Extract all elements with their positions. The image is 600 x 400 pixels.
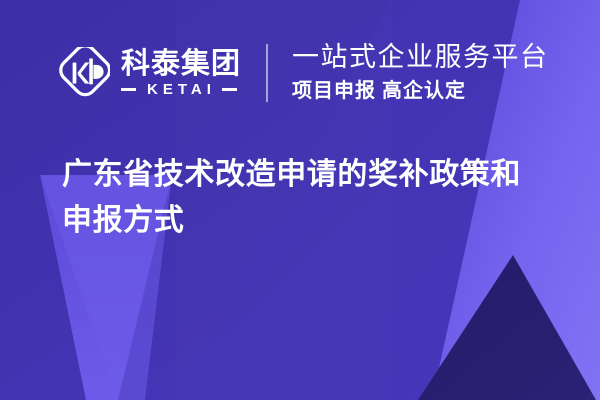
ketai-kd-monogram-logo-icon: [58, 47, 110, 99]
banner-header: 科泰集团 KETAI 一站式企业服务平台 项目申报 高企认定: [58, 38, 549, 108]
dash-left-icon: [121, 88, 136, 91]
logo-wordmark: 科泰集团 KETAI: [121, 49, 241, 98]
page-title-line-2: 申报方式: [62, 198, 548, 244]
slogan-main: 一站式企业服务平台: [292, 42, 549, 74]
page-title-line-1: 广东省技术改造申请的奖补政策和: [62, 152, 548, 198]
header-divider: [266, 44, 268, 102]
company-name-en: KETAI: [142, 82, 216, 97]
promo-banner: 科泰集团 KETAI 一站式企业服务平台 项目申报 高企认定 广东省技术改造申请…: [0, 0, 600, 400]
dash-right-icon: [222, 88, 237, 91]
company-name-cn: 科泰集团: [121, 49, 241, 80]
page-title: 广东省技术改造申请的奖补政策和 申报方式: [62, 152, 548, 243]
company-name-en-row: KETAI: [121, 82, 241, 97]
slogan-block: 一站式企业服务平台 项目申报 高企认定: [292, 42, 549, 104]
slogan-sub: 项目申报 高企认定: [292, 78, 549, 104]
